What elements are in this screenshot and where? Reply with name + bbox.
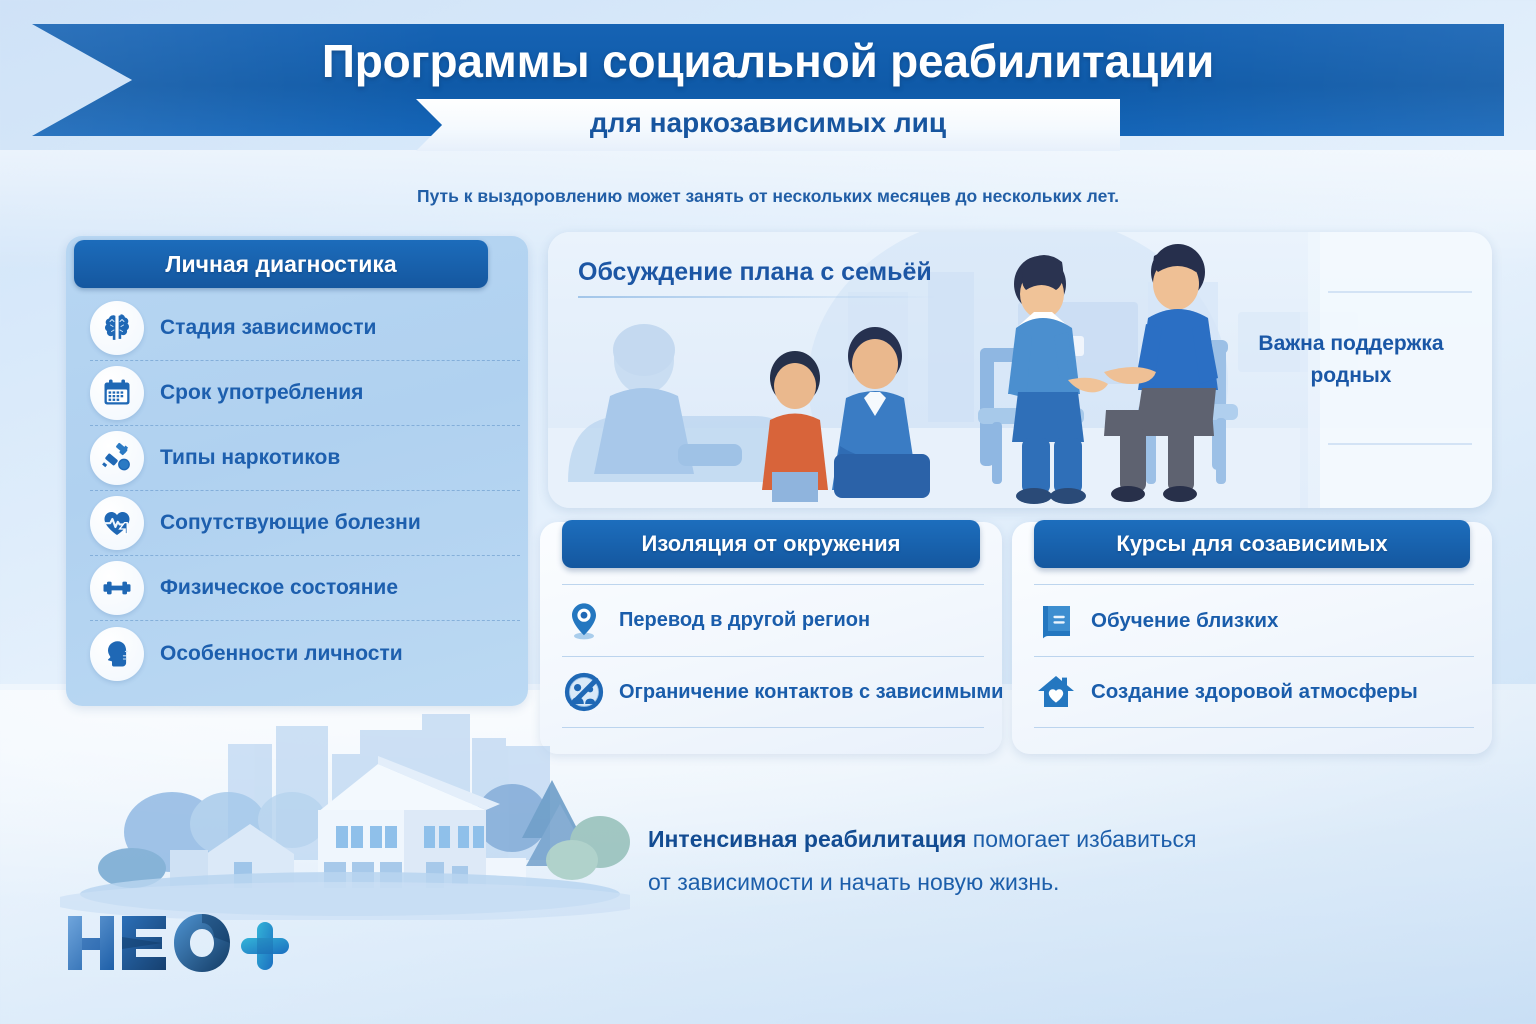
isolation-heading-label: Изоляция от окружения [642, 531, 901, 557]
location-pin-icon [562, 599, 606, 643]
house-heart-icon [1034, 670, 1078, 714]
courses-heading-chip: Курсы для созависимых [1034, 520, 1470, 568]
conclusion-line-1: Интенсивная реабилитация помогает избави… [648, 818, 1408, 861]
list-item[interactable]: Перевод в другой регион [562, 584, 984, 656]
family-support-note: Важна поддержка родных [1236, 328, 1466, 391]
conclusion-line-2: от зависимости и начать новую жизнь. [648, 861, 1408, 904]
list-item[interactable]: Обучение близких [1034, 584, 1474, 656]
family-card-rule [578, 296, 938, 298]
codependents-courses-card: Курсы для созависимых Обучение близких С… [1012, 522, 1492, 754]
conclusion-text: Интенсивная реабилитация помогает избави… [648, 818, 1408, 903]
list-item[interactable]: Сопутствующие болезни [90, 491, 520, 556]
family-discussion-card: Обсуждение плана с семьёй Важна поддержк… [548, 232, 1492, 508]
house-illustration [60, 700, 630, 920]
page-subtitle: для наркозависимых лиц [416, 107, 1120, 139]
list-item-label: Срок употребления [160, 381, 363, 405]
list-item[interactable]: Срок употребления [90, 361, 520, 426]
diagnostics-heading-label: Личная диагностика [165, 251, 396, 278]
list-item-label: Создание здоровой атмосферы [1091, 680, 1418, 704]
dumbbell-icon [90, 561, 144, 615]
brand-logo[interactable] [62, 908, 312, 978]
list-item-label: Сопутствующие болезни [160, 511, 421, 535]
book-icon [1034, 599, 1078, 643]
list-item-label: Физическое состояние [160, 576, 398, 600]
list-item[interactable]: Типы наркотиков [90, 426, 520, 491]
isolation-heading-chip: Изоляция от окружения [562, 520, 980, 568]
diagnostics-list: Стадия зависимости Срок употребления Тип… [90, 296, 520, 686]
list-item[interactable]: Физическое состояние [90, 556, 520, 621]
list-item[interactable]: Особенности личности [90, 621, 520, 686]
list-item-label: Типы наркотиков [160, 446, 340, 470]
courses-list: Обучение близких Создание здоровой атмос… [1034, 584, 1474, 728]
courses-heading-label: Курсы для созависимых [1116, 531, 1387, 557]
heart-pulse-icon [90, 496, 144, 550]
syringe-icon [90, 431, 144, 485]
list-item[interactable]: Стадия зависимости [90, 296, 520, 361]
list-item-label: Особенности личности [160, 642, 403, 666]
list-item[interactable]: Создание здоровой атмосферы [1034, 656, 1474, 728]
brain-icon [90, 301, 144, 355]
list-item-label: Обучение близких [1091, 609, 1278, 633]
infographic-root: Программы социальной реабилитации для на… [0, 0, 1536, 1024]
conclusion-strong: Интенсивная реабилитация [648, 826, 966, 852]
calendar-icon [90, 366, 144, 420]
page-title: Программы социальной реабилитации [0, 34, 1536, 88]
lead-text: Путь к выздоровлению может занять от нес… [0, 186, 1536, 207]
list-item-label: Ограничение контактов с зависимыми [619, 681, 1003, 704]
list-item-label: Стадия зависимости [160, 316, 376, 340]
list-item-label: Перевод в другой регион [619, 609, 870, 632]
diagnostics-heading-chip: Личная диагностика [74, 240, 488, 288]
head-profile-icon [90, 627, 144, 681]
conclusion-rest: помогает избавиться [966, 826, 1196, 852]
family-card-heading: Обсуждение плана с семьёй [578, 258, 932, 287]
